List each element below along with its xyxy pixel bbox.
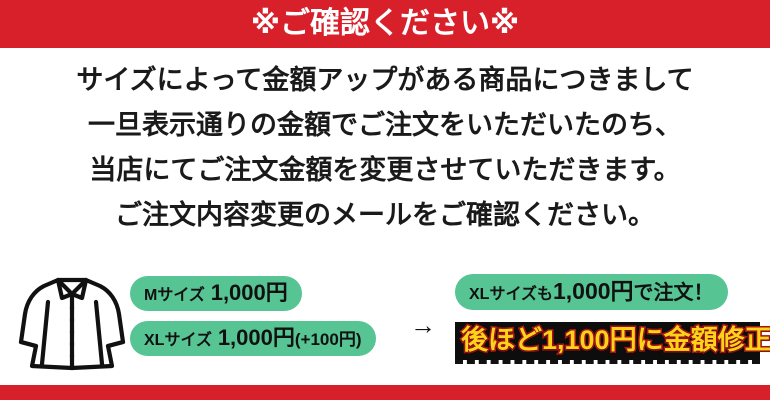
- price-pill-m-size: Mサイズ 1,000円: [130, 276, 302, 311]
- order-note-size-label: XLサイズ: [469, 286, 537, 303]
- notice-line-3: 当店にてご注文金額を変更させていただきます。: [0, 148, 770, 193]
- notice-line-2: 一旦表示通りの金額でご注文をいただいたのち、: [0, 103, 770, 148]
- page-title: ※ご確認ください※: [251, 9, 519, 39]
- shirt-icon: [18, 268, 126, 373]
- before-prices: Mサイズ 1,000円 XLサイズ 1,000円(+100円): [130, 276, 395, 356]
- correction-text: 後ほど1,100円に金額修正: [461, 325, 754, 356]
- correction-block: 後ほど1,100円に金額修正: [455, 322, 760, 360]
- order-note-amount: 1,000円: [553, 278, 634, 304]
- order-note-pill: XLサイズも1,000円で注文！: [455, 274, 728, 310]
- xl-size-label: XLサイズ: [144, 332, 212, 349]
- correction-underline: [455, 360, 760, 364]
- xl-size-amount: 1,000円: [218, 325, 295, 350]
- price-comparison-row: Mサイズ 1,000円 XLサイズ 1,000円(+100円) → XLサイズも…: [0, 268, 770, 378]
- notice-line-1: サイズによって金額アップがある商品につきまして: [0, 58, 770, 103]
- arrow-right-icon: →: [400, 312, 446, 338]
- m-size-amount: 1,000円: [211, 280, 288, 305]
- order-note-tail: で注文！: [634, 282, 714, 304]
- after-prices: XLサイズも1,000円で注文！ 後ほど1,100円に金額修正: [455, 274, 760, 360]
- notice-body: サイズによって金額アップがある商品につきまして 一旦表示通りの金額でご注文をいた…: [0, 58, 770, 238]
- footer-bar: [0, 385, 770, 400]
- m-size-label: Mサイズ: [144, 287, 205, 304]
- notice-line-4: ご注文内容変更のメールをご確認ください。: [0, 193, 770, 238]
- price-pill-xl-size: XLサイズ 1,000円(+100円): [130, 321, 376, 356]
- xl-size-surcharge: (+100円): [295, 330, 362, 349]
- notice-banner: ※ご確認ください※ サイズによって金額アップがある商品につきまして 一旦表示通り…: [0, 0, 770, 400]
- order-note-particle: も: [537, 286, 553, 303]
- header-bar: ※ご確認ください※: [0, 0, 770, 48]
